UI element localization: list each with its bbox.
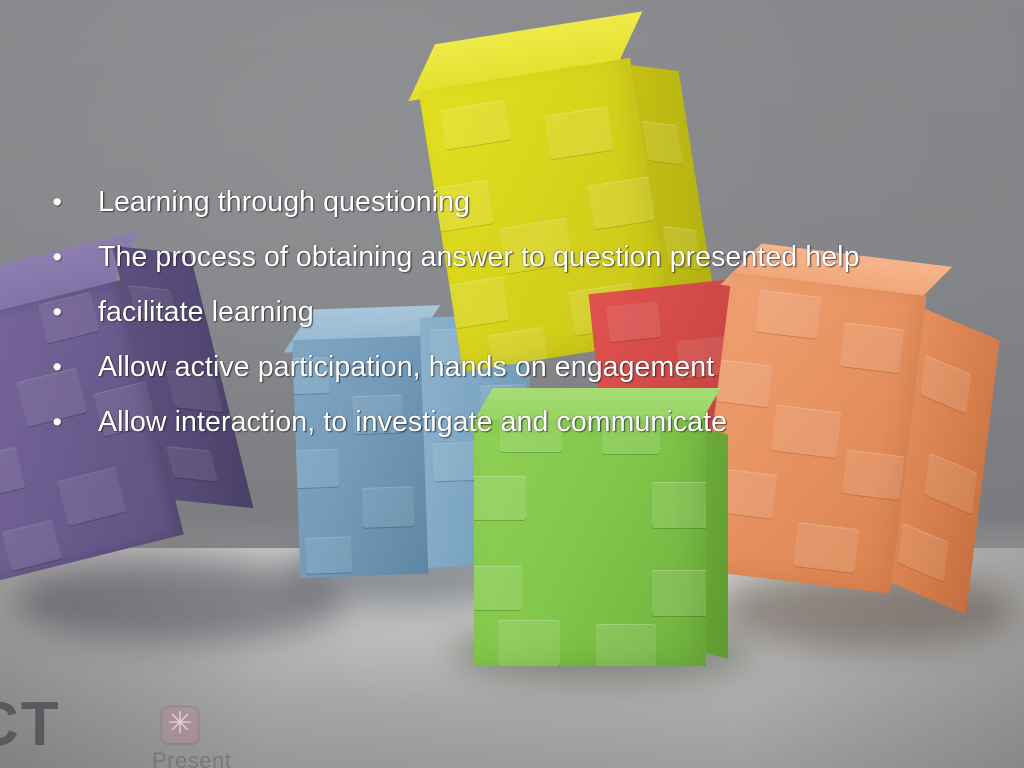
bullet-marker: • (0, 299, 62, 326)
bullet-marker: • (0, 244, 62, 271)
green-cube-side-face (706, 429, 728, 658)
bullet-list: • Learning through questioning • The pro… (0, 186, 1024, 461)
list-item: • The process of obtaining answer to que… (0, 241, 1024, 296)
bullet-text: The process of obtaining answer to quest… (62, 241, 860, 274)
list-item: • Allow active participation, hands on e… (0, 351, 1024, 406)
list-item: • Learning through questioning (0, 186, 1024, 241)
list-item: • facilitate learning (0, 296, 1024, 351)
bullet-text: Allow interaction, to investigate and co… (62, 406, 727, 439)
presentation-slide: • Learning through questioning • The pro… (0, 0, 1024, 768)
bullet-text: Allow active participation, hands on eng… (62, 351, 714, 384)
bullet-marker: • (0, 354, 62, 381)
bullet-marker: • (0, 409, 62, 436)
bullet-text: facilitate learning (62, 296, 314, 329)
watermark-subtext: Present (152, 748, 231, 768)
bullet-text: Learning through questioning (62, 186, 470, 219)
watermark-badge: ✳ (161, 706, 199, 744)
bullet-marker: • (0, 189, 62, 216)
asterisk-icon: ✳ (162, 707, 198, 743)
watermark-logo: CT ✳ Present (0, 688, 340, 768)
list-item: • Allow interaction, to investigate and … (0, 406, 1024, 461)
watermark-letters: CT (0, 694, 61, 756)
